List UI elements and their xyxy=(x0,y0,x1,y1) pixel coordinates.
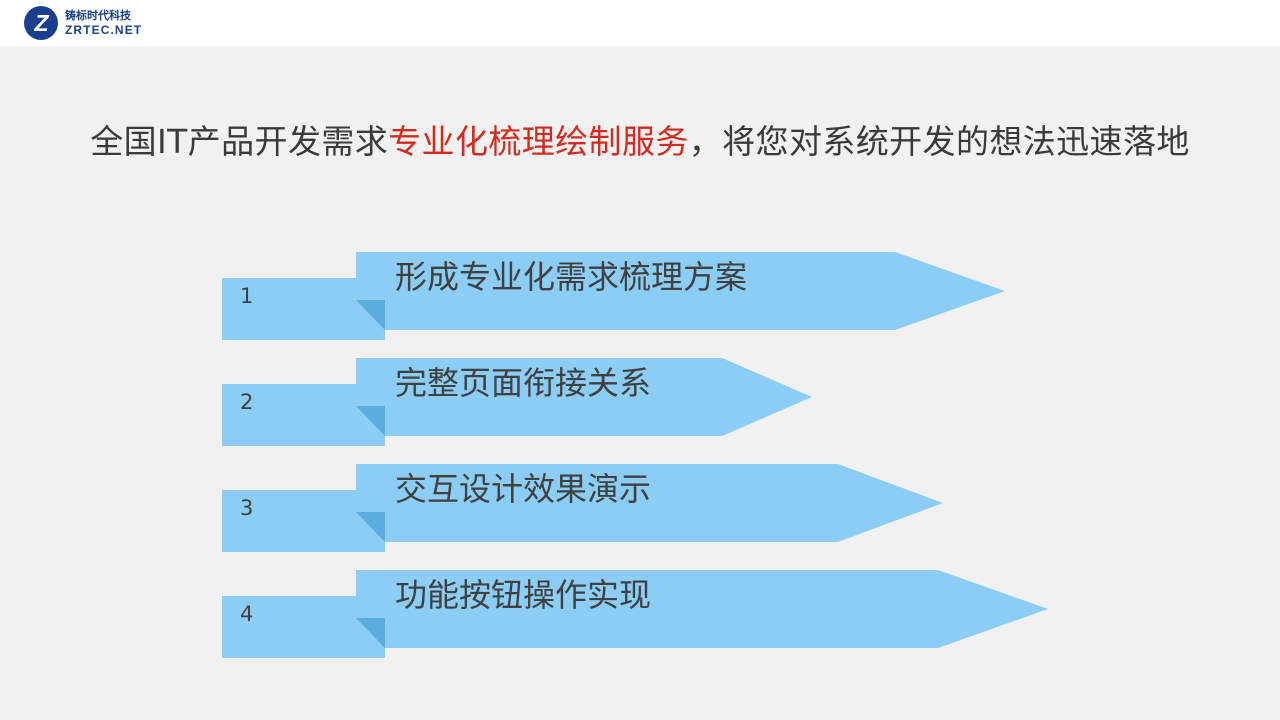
logo-text-block: 铸标时代科技 ZRTEC.NET xyxy=(65,10,142,36)
step-number-label: 4 xyxy=(240,604,253,625)
process-step-3[interactable]: 3交互设计效果演示 xyxy=(0,456,1280,571)
step-number-label: 2 xyxy=(240,392,253,413)
slide-title-part1: 全国IT产品开发需求 xyxy=(90,122,388,161)
step-title-label: 形成专业化需求梳理方案 xyxy=(395,257,747,297)
logo-company-cn: 铸标时代科技 xyxy=(65,10,142,21)
app-header: Z 铸标时代科技 ZRTEC.NET xyxy=(0,0,1280,46)
step-title-label: 完整页面衔接关系 xyxy=(395,363,651,403)
logo-z-glyph: Z xyxy=(24,6,58,40)
slide-title: 全国IT产品开发需求专业化梳理绘制服务，将您对系统开发的想法迅速落地 xyxy=(0,115,1280,163)
step-title-label: 交互设计效果演示 xyxy=(395,469,651,509)
process-step-4[interactable]: 4功能按钮操作实现 xyxy=(0,562,1280,677)
logo-z-icon: Z xyxy=(24,6,58,40)
logo-company-en: ZRTEC.NET xyxy=(65,24,142,36)
slide-title-part2: ，将您对系统开发的想法迅速落地 xyxy=(689,122,1190,161)
process-step-2[interactable]: 2完整页面衔接关系 xyxy=(0,350,1280,465)
process-step-1[interactable]: 1形成专业化需求梳理方案 xyxy=(0,244,1280,359)
process-arrow-list: 1形成专业化需求梳理方案2完整页面衔接关系3交互设计效果演示4功能按钮操作实现 xyxy=(0,0,1280,720)
step-title-label: 功能按钮操作实现 xyxy=(395,575,651,615)
slide-title-highlight: 专业化梳理绘制服务 xyxy=(388,122,689,161)
step-number-label: 1 xyxy=(240,286,253,307)
step-number-label: 3 xyxy=(240,498,253,519)
company-logo[interactable]: Z 铸标时代科技 ZRTEC.NET xyxy=(24,5,142,41)
